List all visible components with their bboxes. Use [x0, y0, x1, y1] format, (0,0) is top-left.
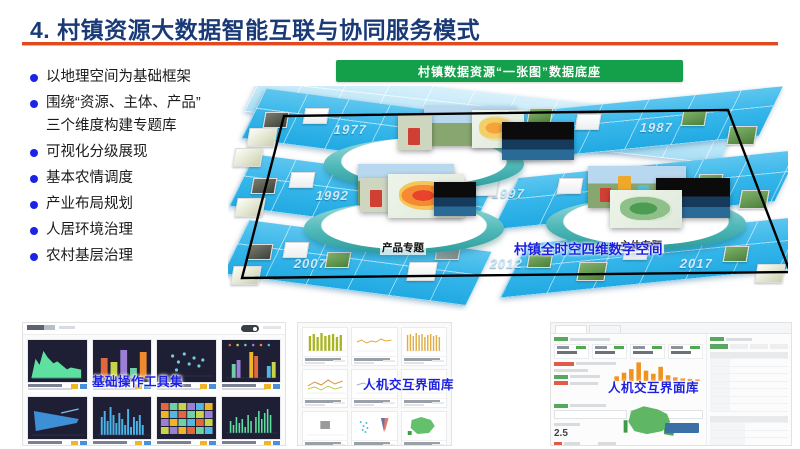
list-item: 围绕“资源、主体、产品” — [30, 94, 245, 113]
topic-label-product: 产品专题 — [380, 240, 426, 255]
panel-label-hci-center: 人机交互界面库 — [363, 374, 454, 393]
chart-thumbnail — [402, 412, 446, 440]
list-item-label: 可视化分级展现 — [46, 143, 148, 162]
chart-card[interactable] — [302, 369, 348, 408]
table-tab-4[interactable] — [770, 344, 788, 349]
list-item: 基本农情调度 — [30, 169, 245, 188]
slide-root: 4. 村镇资源大数据智能互联与协同服务模式 以地理空间为基础框架 围绕“资源、主… — [0, 0, 800, 449]
table-tab-3[interactable] — [750, 344, 768, 349]
bullet-dot-icon — [30, 100, 38, 108]
map-thumbnail — [575, 114, 602, 130]
bullet-list: 以地理空间为基础框架 围绕“资源、主体、产品” 三个维度构建专题库 可视化分级展… — [30, 68, 245, 273]
table-header-row — [710, 416, 788, 423]
map-thumbnail — [723, 246, 750, 262]
chart-thumbnail — [303, 412, 347, 440]
map-thumbnail — [738, 190, 769, 209]
preview-card — [434, 182, 476, 216]
chart-card[interactable] — [156, 396, 217, 446]
isometric-diagram: 1977 1982 1987 1992 1997 2002 2007 2012 … — [228, 86, 788, 311]
chart-thumbnail — [92, 396, 153, 440]
chart-thumbnail — [402, 328, 446, 356]
chart-caption — [402, 440, 446, 446]
theme-toggle[interactable] — [241, 325, 259, 332]
chart-card[interactable] — [351, 327, 397, 366]
chart-caption — [303, 356, 347, 365]
chart-card[interactable] — [221, 339, 282, 392]
chart-caption — [402, 356, 446, 365]
table-row[interactable] — [710, 381, 788, 389]
table-header — [710, 337, 788, 341]
chart-thumbnail — [303, 328, 347, 356]
chart-thumbnail — [303, 370, 347, 398]
map-tooltip — [665, 423, 699, 433]
chart-caption — [221, 440, 282, 446]
page-title: 4. 村镇资源大数据智能互联与协同服务模式 — [30, 11, 480, 45]
map-thumbnail — [681, 110, 708, 126]
chart-card[interactable] — [27, 396, 88, 446]
chart-caption — [352, 356, 396, 365]
panel-label-hci-right: 人机交互界面库 — [608, 377, 699, 396]
table-row[interactable] — [710, 445, 788, 446]
chart-card[interactable] — [401, 327, 447, 366]
chart-card[interactable] — [92, 396, 153, 446]
year-label: 2012 — [488, 256, 524, 271]
list-item: 以地理空间为基础框架 — [30, 68, 245, 87]
kpi-row — [554, 344, 703, 359]
map-thumbnail — [232, 148, 263, 167]
china-map-icon — [619, 401, 681, 441]
list-item-label: 产业布局规划 — [46, 195, 133, 214]
data-table[interactable] — [710, 352, 788, 412]
chart-thumbnail — [352, 328, 396, 356]
table-row[interactable] — [710, 389, 788, 397]
map-thumbnail — [754, 264, 785, 283]
table-row[interactable] — [710, 423, 788, 431]
chart-thumbnail — [156, 396, 217, 440]
table-row[interactable] — [710, 374, 788, 382]
year-label: 2017 — [678, 256, 714, 271]
chart-caption — [402, 398, 446, 407]
tab-overview[interactable] — [555, 325, 587, 333]
preview-card — [610, 190, 682, 228]
data-table-secondary[interactable] — [710, 416, 788, 447]
bullet-dot-icon — [30, 175, 38, 183]
year-label: 1987 — [638, 120, 674, 135]
map-thumbnail — [251, 178, 278, 194]
banner-label: 村镇数据资源“一张图”数据底座 — [418, 63, 601, 80]
chart-caption — [92, 440, 153, 446]
map-thumbnail — [726, 126, 757, 145]
tab-detail[interactable] — [589, 325, 621, 333]
map-thumbnail — [247, 244, 274, 260]
chart-caption — [27, 383, 88, 392]
panel-right-column — [706, 334, 791, 446]
list-item: 产业布局规划 — [30, 195, 245, 214]
list-item-continuation: 三个维度构建专题库 — [46, 117, 245, 136]
table-header-row — [710, 352, 788, 359]
dashboard-title-bar — [27, 325, 55, 330]
chart-thumbnail — [352, 412, 396, 440]
chart-caption — [352, 440, 396, 446]
bullet-dot-icon — [30, 201, 38, 209]
map-thumbnail — [406, 262, 437, 281]
chart-caption — [303, 440, 347, 446]
map-thumbnail — [246, 128, 277, 147]
kpi-card[interactable] — [592, 344, 627, 359]
chart-caption — [221, 383, 282, 392]
year-label: 1992 — [314, 188, 350, 203]
list-item: 人居环境治理 — [30, 221, 245, 240]
dashboard-subtitle-bar — [59, 326, 75, 329]
chart-card[interactable] — [27, 339, 88, 392]
chart-card[interactable] — [302, 411, 348, 446]
table-row[interactable] — [710, 366, 788, 374]
toggle-label-bar — [263, 326, 281, 329]
map-thumbnail — [230, 266, 261, 285]
map-thumbnail — [325, 252, 352, 268]
table-row[interactable] — [710, 396, 788, 404]
bullet-dot-icon — [30, 227, 38, 235]
map-thumbnail — [303, 108, 330, 124]
map-thumbnail — [283, 242, 310, 258]
chart-caption — [27, 440, 88, 446]
list-item: 可视化分级展现 — [30, 143, 245, 162]
map-thumbnail — [234, 198, 265, 217]
table-row[interactable] — [710, 438, 788, 446]
year-label: 1977 — [332, 122, 368, 137]
kpi-card[interactable] — [554, 344, 589, 359]
panel-label-basic-tools: 基础操作工具集 — [92, 371, 183, 390]
chart-thumbnail — [27, 396, 88, 440]
chart-thumbnail — [221, 396, 282, 440]
chart-card[interactable] — [221, 396, 282, 446]
table-row[interactable] — [710, 430, 788, 438]
year-label: 2007 — [292, 256, 328, 271]
map-thumbnail — [263, 112, 290, 128]
dashboard-header — [23, 323, 285, 335]
chart-card[interactable] — [401, 411, 447, 446]
chart-gallery — [23, 335, 285, 446]
chart-caption — [303, 398, 347, 407]
digital-space-label: 村镇全时空四维数字空间 — [514, 238, 663, 258]
chart-card[interactable] — [351, 411, 397, 446]
section-header — [554, 337, 703, 341]
table-row[interactable] — [710, 359, 788, 367]
map-thumbnail — [289, 172, 316, 188]
table-row[interactable] — [710, 404, 788, 412]
list-item-label: 以地理空间为基础框架 — [46, 68, 191, 87]
chart-card[interactable] — [302, 327, 348, 366]
bullet-dot-icon — [30, 74, 38, 82]
kpi-card[interactable] — [668, 344, 703, 359]
title-divider-thin — [22, 45, 778, 46]
list-item-label: 围绕“资源、主体、产品” — [46, 94, 201, 113]
preview-card — [502, 122, 574, 160]
chart-thumbnail — [221, 339, 282, 383]
select-region[interactable] — [554, 410, 627, 419]
chart-caption — [156, 440, 217, 446]
chart-caption — [352, 398, 396, 407]
legend-row-1 — [554, 442, 703, 446]
map-thumbnail — [557, 178, 584, 194]
bullet-dot-icon — [30, 149, 38, 157]
kpi-card[interactable] — [630, 344, 665, 359]
list-item-label: 农村基层治理 — [46, 247, 133, 266]
chart-thumbnail — [27, 339, 88, 383]
preview-card — [398, 114, 432, 150]
map-thumbnail — [576, 262, 607, 281]
bullet-dot-icon — [30, 253, 38, 261]
data-base-banner: 村镇数据资源“一张图”数据底座 — [336, 60, 683, 82]
list-item-label: 人居环境治理 — [46, 221, 133, 240]
tab-bar — [551, 323, 791, 334]
table-tab-1[interactable] — [710, 344, 728, 349]
table-tab-2[interactable] — [730, 344, 748, 349]
list-item: 农村基层治理 — [30, 247, 245, 266]
list-item-label: 基本农情调度 — [46, 169, 133, 188]
